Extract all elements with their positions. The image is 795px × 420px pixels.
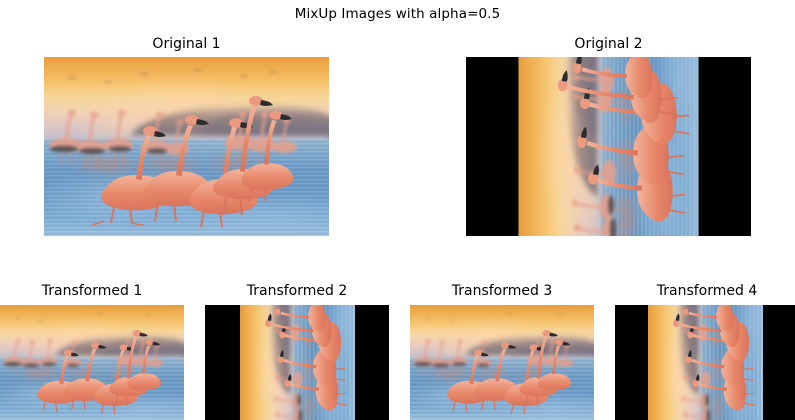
letterbox-frame [205,305,389,420]
foreground-flamingos-icon [44,57,329,236]
panel-title-transformed-3: Transformed 3 [410,283,594,299]
foreground-flamingos-icon [0,305,184,420]
foreground-flamingos-icon [648,305,763,420]
panel-image-transformed-2 [205,305,389,420]
flamingo-scene [44,57,329,236]
figure-suptitle: MixUp Images with alpha=0.5 [0,6,795,22]
flamingo-scene [648,305,763,420]
letterbox-frame [466,57,751,236]
rotated-photo [518,57,698,236]
foreground-flamingos-icon [410,305,594,420]
panel-image-transformed-3 [410,305,594,420]
panel-image-original-2 [466,57,751,236]
rotated-photo [240,305,355,420]
panel-title-transformed-1: Transformed 1 [0,283,184,299]
flamingo-scene [240,305,355,420]
foreground-flamingos-icon [518,57,698,236]
panel-title-transformed-2: Transformed 2 [205,283,389,299]
panel-image-transformed-1 [0,305,184,420]
foreground-flamingos-icon [240,305,355,420]
matplotlib-figure: MixUp Images with alpha=0.5 Original 1 [0,0,795,419]
panel-title-original-2: Original 2 [466,36,751,52]
letterbox-frame [615,305,795,420]
panel-image-original-1 [44,57,329,236]
panel-title-original-1: Original 1 [44,36,329,52]
panel-title-transformed-4: Transformed 4 [615,283,795,299]
flamingo-scene [0,305,184,420]
rotated-photo [648,305,763,420]
panel-image-transformed-4 [615,305,795,420]
flamingo-scene [410,305,594,420]
flamingo-scene [518,57,698,236]
